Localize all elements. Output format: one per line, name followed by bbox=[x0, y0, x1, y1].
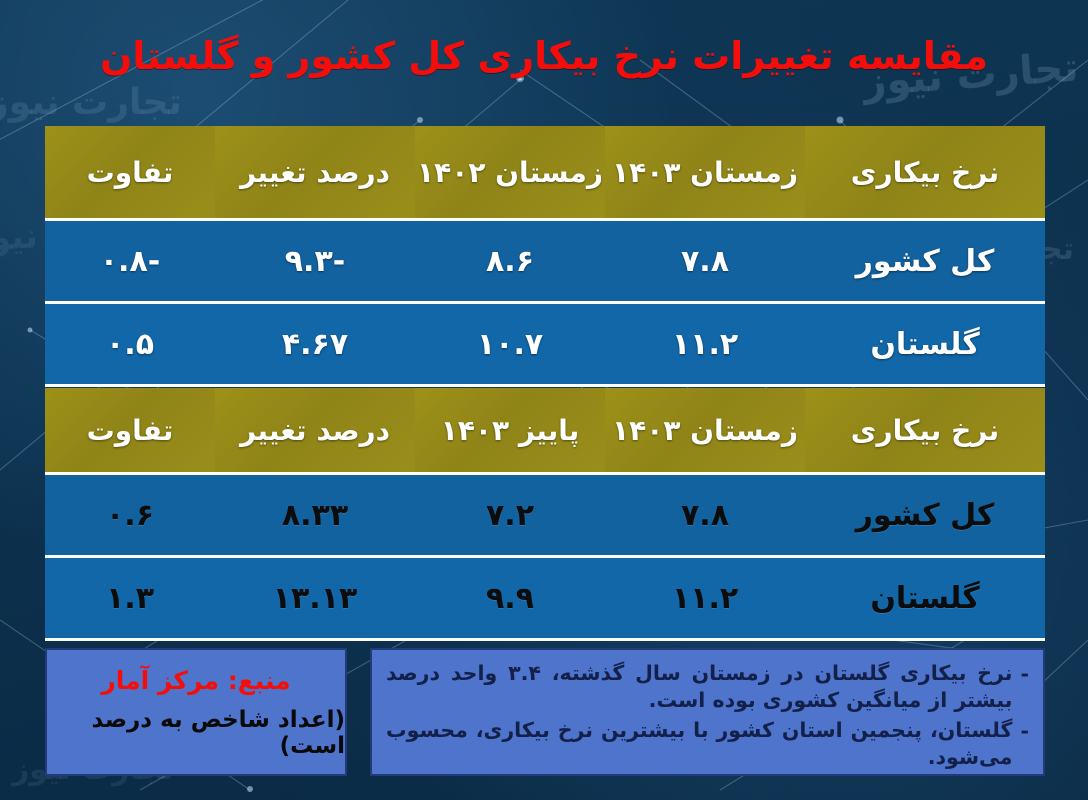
table-one-row0-col-d: -۰.۸ bbox=[45, 220, 215, 303]
source-label: منبع: مرکز آمار bbox=[101, 666, 290, 695]
table-two-row1-col-c: ۱۳.۱۳ bbox=[215, 557, 415, 640]
table-two-header-autumn-1403: پاییز ۱۴۰۳ bbox=[415, 388, 605, 474]
table-one-header-metric: نرخ بیکاری bbox=[805, 126, 1045, 220]
table-two-row0-col-b: ۷.۲ bbox=[415, 474, 605, 557]
bullet-marker-icon: - bbox=[1020, 660, 1029, 688]
table-one-row1-label: گلستان bbox=[805, 303, 1045, 386]
note-text-0: نرخ بیکاری گلستان در زمستان سال گذشته، ۳… bbox=[386, 660, 1012, 714]
table-one-row1-col-d: ۰.۵ bbox=[45, 303, 215, 386]
unemployment-table-winter-comparison: نرخ بیکاری زمستان ۱۴۰۳ زمستان ۱۴۰۲ درصد … bbox=[45, 126, 1045, 387]
list-item: - گلستان، پنجمین استان کشور با بیشترین ن… bbox=[386, 717, 1029, 771]
table-two-header-difference: تفاوت bbox=[45, 388, 215, 474]
table-one-header-winter-1402: زمستان ۱۴۰۲ bbox=[415, 126, 605, 220]
table-one-header-winter-1403: زمستان ۱۴۰۳ bbox=[605, 126, 805, 220]
source-box: منبع: مرکز آمار (اعداد شاخص به درصد است) bbox=[45, 648, 347, 776]
table-one-row1-col-b: ۱۰.۷ bbox=[415, 303, 605, 386]
source-note: (اعداد شاخص به درصد است) bbox=[47, 707, 345, 759]
table-one-header-difference: تفاوت bbox=[45, 126, 215, 220]
list-item: - نرخ بیکاری گلستان در زمستان سال گذشته،… bbox=[386, 660, 1029, 714]
table-two-row1-col-a: ۱۱.۲ bbox=[605, 557, 805, 640]
table-two-row0-col-c: ۸.۳۳ bbox=[215, 474, 415, 557]
table-one-row0-col-b: ۸.۶ bbox=[415, 220, 605, 303]
table-one-row0-col-a: ۷.۸ bbox=[605, 220, 805, 303]
table-two-row1-col-b: ۹.۹ bbox=[415, 557, 605, 640]
infographic-content: مقایسه تغییرات نرخ بیکاری کل کشور و گلست… bbox=[0, 0, 1088, 800]
bullet-marker-icon: - bbox=[1020, 717, 1029, 745]
table-two-row1-col-d: ۱.۳ bbox=[45, 557, 215, 640]
table-two-row0-col-a: ۷.۸ bbox=[605, 474, 805, 557]
table-two-header-winter-1403: زمستان ۱۴۰۳ bbox=[605, 388, 805, 474]
table-two-row1-label: گلستان bbox=[805, 557, 1045, 640]
table-one-header-percent-change: درصد تغییر bbox=[215, 126, 415, 220]
table-one-row1-col-c: ۴.۶۷ bbox=[215, 303, 415, 386]
table-two-header-percent-change: درصد تغییر bbox=[215, 388, 415, 474]
table-row: گلستان ۱۱.۲ ۱۰.۷ ۴.۶۷ ۰.۵ bbox=[45, 303, 1045, 386]
table-two-header-row: نرخ بیکاری زمستان ۱۴۰۳ پاییز ۱۴۰۳ درصد ت… bbox=[45, 388, 1045, 474]
table-two-row0-label: کل کشور bbox=[805, 474, 1045, 557]
table-row: گلستان ۱۱.۲ ۹.۹ ۱۳.۱۳ ۱.۳ bbox=[45, 557, 1045, 640]
table-two-row0-col-d: ۰.۶ bbox=[45, 474, 215, 557]
table-one-header-row: نرخ بیکاری زمستان ۱۴۰۳ زمستان ۱۴۰۲ درصد … bbox=[45, 126, 1045, 220]
key-findings-box: - نرخ بیکاری گلستان در زمستان سال گذشته،… bbox=[370, 648, 1045, 776]
table-row: کل کشور ۷.۸ ۷.۲ ۸.۳۳ ۰.۶ bbox=[45, 474, 1045, 557]
note-text-1: گلستان، پنجمین استان کشور با بیشترین نرخ… bbox=[386, 717, 1012, 771]
table-one-row1-col-a: ۱۱.۲ bbox=[605, 303, 805, 386]
table-one-row0-col-c: -۹.۳ bbox=[215, 220, 415, 303]
unemployment-table-season-comparison: نرخ بیکاری زمستان ۱۴۰۳ پاییز ۱۴۰۳ درصد ت… bbox=[45, 388, 1045, 641]
table-one-row0-label: کل کشور bbox=[805, 220, 1045, 303]
table-two-header-metric: نرخ بیکاری bbox=[805, 388, 1045, 474]
page-title: مقایسه تغییرات نرخ بیکاری کل کشور و گلست… bbox=[0, 34, 1088, 78]
table-row: کل کشور ۷.۸ ۸.۶ -۹.۳ -۰.۸ bbox=[45, 220, 1045, 303]
